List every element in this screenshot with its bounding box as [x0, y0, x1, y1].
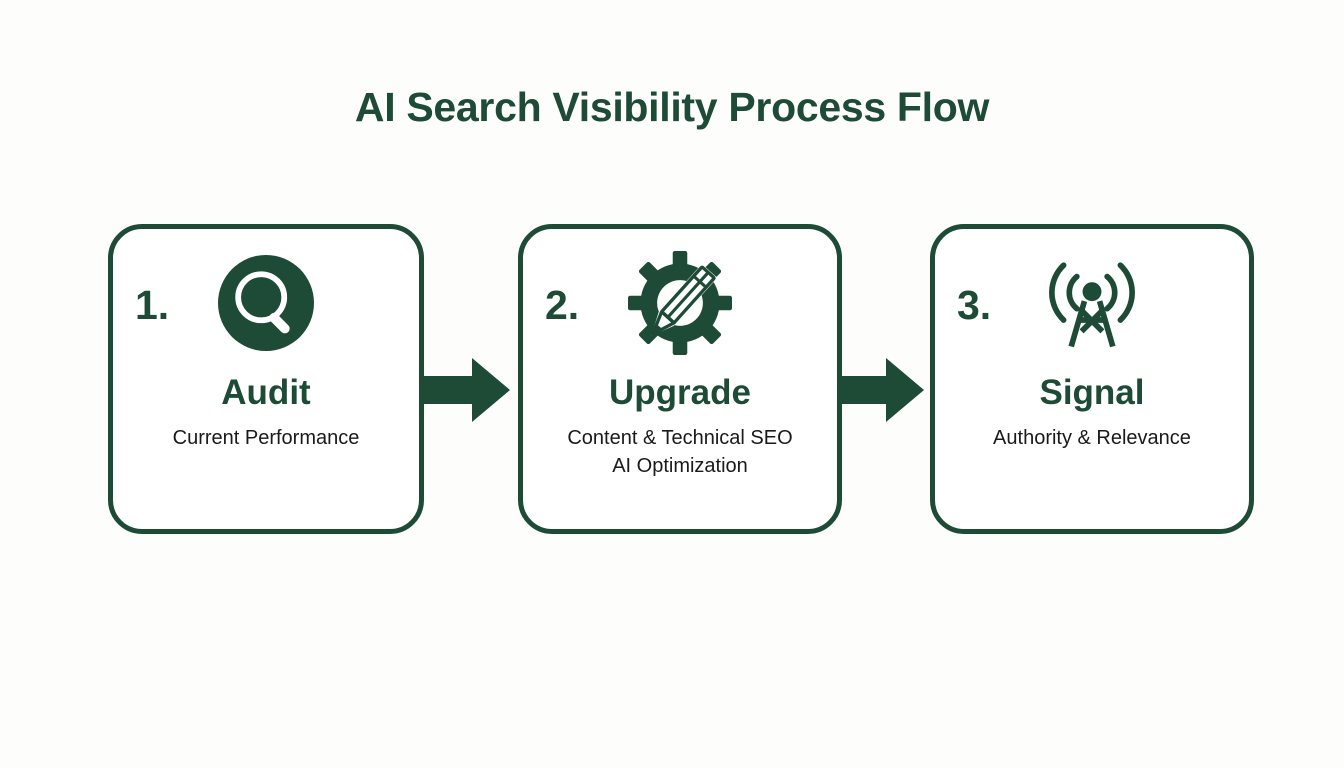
- process-step-card-audit[interactable]: 1. AI Audit Current Performance: [108, 224, 424, 534]
- step-title: Signal: [1039, 375, 1144, 412]
- step-title: Upgrade: [609, 375, 751, 412]
- step-subtitle: Content & Technical SEO AI Optimization: [567, 424, 792, 480]
- ai-magnifier-label: AI: [250, 286, 272, 311]
- step-subtitle-line: Authority & Relevance: [993, 424, 1191, 452]
- step-content: Signal Authority & Relevance: [935, 253, 1249, 452]
- process-flow: 1. AI Audit Current Performance: [108, 224, 1254, 534]
- step-icon-container: AI: [218, 253, 314, 353]
- step-subtitle-line: AI Optimization: [567, 452, 792, 480]
- arrow-right-icon-2: [838, 354, 924, 426]
- step-content: AI Audit Current Performance: [113, 253, 419, 452]
- step-subtitle: Authority & Relevance: [993, 424, 1191, 452]
- step-subtitle-line: Current Performance: [173, 424, 360, 452]
- gear-pencil-icon: [628, 251, 732, 355]
- page-title: AI Search Visibility Process Flow: [0, 84, 1344, 131]
- diagram-canvas: AI Search Visibility Process Flow 1. AI …: [0, 0, 1344, 768]
- step-subtitle: Current Performance: [173, 424, 360, 452]
- process-step-card-signal[interactable]: 3.: [930, 224, 1254, 534]
- step-title: Audit: [221, 375, 310, 412]
- step-subtitle-line: Content & Technical SEO: [567, 424, 792, 452]
- step-icon-container: [628, 253, 732, 353]
- process-step-card-upgrade[interactable]: 2.: [518, 224, 842, 534]
- step-icon-container: [1040, 253, 1144, 353]
- broadcast-tower-icon: [1040, 253, 1144, 353]
- step-content: Upgrade Content & Technical SEO AI Optim…: [523, 253, 837, 480]
- ai-magnifier-icon: AI: [218, 255, 314, 351]
- arrow-right-icon-1: [424, 354, 510, 426]
